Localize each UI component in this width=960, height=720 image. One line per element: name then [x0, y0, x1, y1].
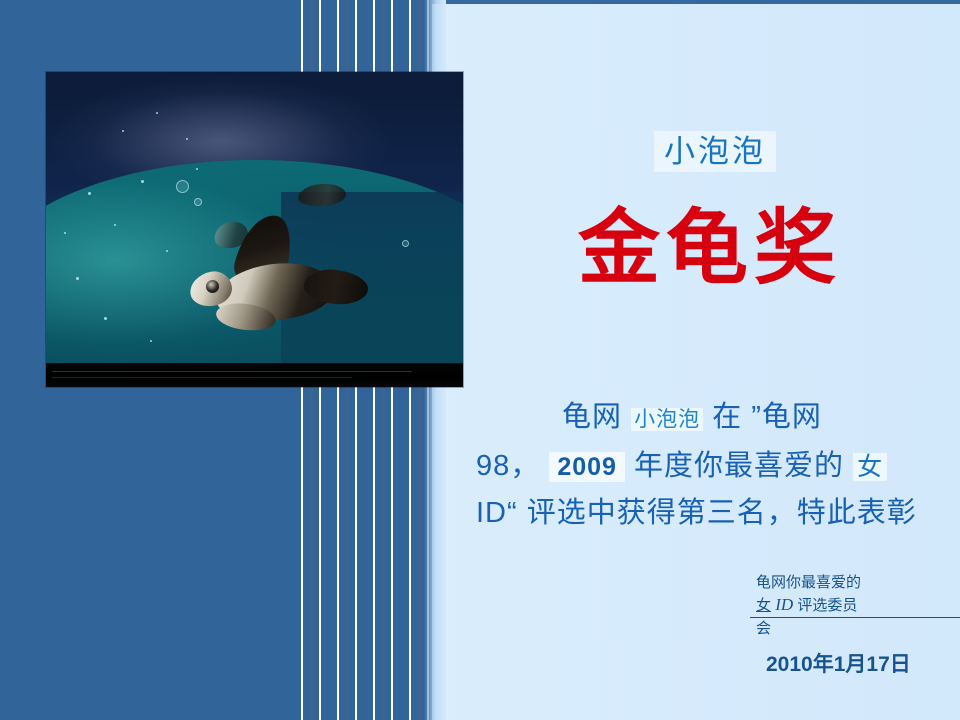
signature-committee: 评选委员	[797, 597, 857, 614]
turtle-photo	[46, 72, 463, 387]
sea-turtle	[162, 212, 372, 342]
water-sparkle	[114, 224, 116, 226]
citation-year: 2009	[549, 452, 625, 482]
water-sparkle	[64, 232, 66, 234]
signature-id-label: ID	[775, 595, 793, 614]
water-sparkle	[196, 168, 198, 170]
citation-site-name-1: 龟网	[562, 401, 622, 433]
citation-line2-mid: 年度你最喜爱的	[634, 450, 844, 482]
slide-canvas: 小泡泡 金龟奖 龟网 小泡泡 在 ”龟网 98， 2009 年度你最喜爱的 女 …	[0, 0, 960, 720]
nickname-text: 小泡泡	[654, 131, 776, 172]
signature-block: 龟网你最喜爱的 女 ID 评选委员 会	[756, 572, 960, 640]
signature-line-2: 女 ID 评选委员	[750, 594, 960, 618]
star-speck	[122, 130, 124, 132]
signature-gender: 女	[756, 597, 771, 614]
signature-date: 2010年1月17日	[766, 648, 911, 678]
water-sparkle	[150, 340, 152, 342]
signature-line-3: 会	[756, 620, 771, 637]
citation-line1-tail: 在 ”龟网	[712, 401, 822, 433]
turtle-eye	[206, 280, 219, 293]
star-speck	[186, 138, 188, 140]
water-sparkle	[104, 317, 107, 320]
citation-gender: 女	[853, 453, 887, 481]
citation-body: 龟网 小泡泡 在 ”龟网 98， 2009 年度你最喜爱的 女 ID“ 评选中获…	[466, 394, 960, 536]
water-sparkle	[88, 192, 91, 195]
award-title: 金龟奖	[470, 208, 950, 290]
bubble	[194, 198, 202, 206]
citation-line-1: 龟网 小泡泡 在 ”龟网	[466, 394, 960, 443]
water-sparkle	[141, 180, 144, 183]
bubble	[402, 240, 409, 247]
bubble	[176, 180, 189, 193]
citation-line-2: 98， 2009 年度你最喜爱的 女	[466, 443, 960, 490]
citation-line-3: ID“ 评选中获得第三名，特此表彰	[466, 490, 960, 536]
water-sparkle	[76, 277, 79, 280]
citation-site-number: 98，	[476, 450, 540, 482]
citation-nickname: 小泡泡	[631, 408, 703, 431]
signature-line-1: 龟网你最喜爱的	[756, 574, 861, 591]
star-speck	[156, 112, 158, 114]
nickname-heading: 小泡泡	[470, 126, 960, 171]
photo-footer-band	[46, 363, 463, 387]
